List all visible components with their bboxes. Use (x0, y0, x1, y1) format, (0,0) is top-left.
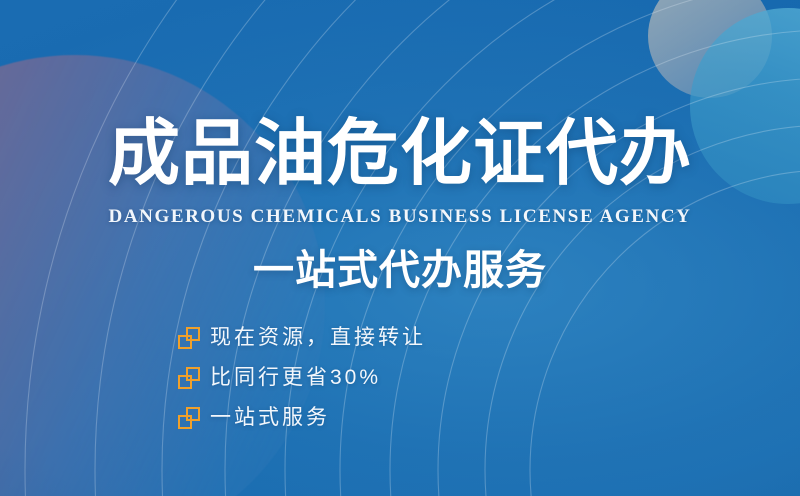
list-item-label: 一站式服务 (210, 404, 330, 432)
list-item-label: 现在资源，直接转让 (210, 324, 426, 352)
list-item: 比同行更省30% (178, 358, 618, 398)
double-square-icon (178, 367, 200, 389)
banner-content: 成品油危化证代办 DANGEROUS CHEMICALS BUSINESS LI… (0, 0, 800, 496)
promo-banner: 成品油危化证代办 DANGEROUS CHEMICALS BUSINESS LI… (0, 0, 800, 496)
service-subtitle: 一站式代办服务 (0, 245, 800, 295)
list-item: 一站式服务 (178, 398, 618, 438)
list-item: 现在资源，直接转让 (178, 318, 618, 358)
english-subtitle: DANGEROUS CHEMICALS BUSINESS LICENSE AGE… (0, 205, 800, 229)
double-square-icon (178, 407, 200, 429)
double-square-icon (178, 327, 200, 349)
feature-list: 现在资源，直接转让 比同行更省30% 一站式服务 (178, 318, 618, 438)
page-title: 成品油危化证代办 (0, 115, 800, 193)
list-item-label: 比同行更省30% (210, 364, 381, 392)
